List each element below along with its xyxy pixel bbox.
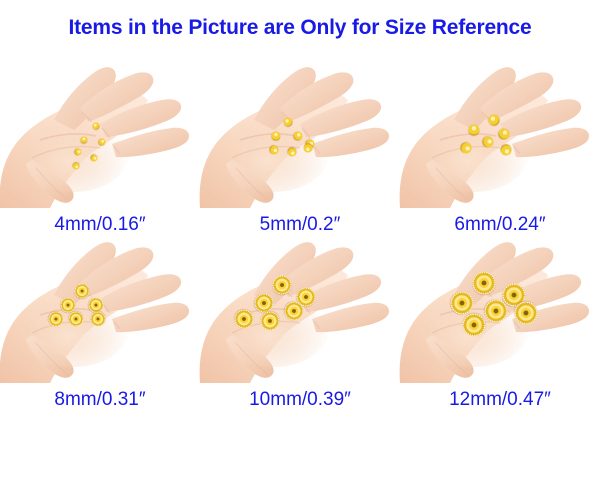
hand-photo (196, 223, 408, 388)
open-palm-illustration (0, 223, 208, 388)
hand-photo (0, 48, 208, 213)
page-title: Items in the Picture are Only for Size R… (0, 16, 600, 40)
size-cell-5mm: 5mm/0.2″ (200, 52, 400, 237)
hand-photo (196, 48, 408, 213)
open-palm-illustration (0, 48, 208, 213)
size-label-12mm: 12mm/0.47″ (400, 389, 600, 411)
size-cell-6mm: 6mm/0.24″ (400, 52, 600, 237)
size-cell-12mm: 12mm/0.47″ (400, 227, 600, 412)
size-reference-grid: 4mm/0.16″ (0, 52, 600, 472)
open-palm-illustration (196, 48, 408, 213)
size-label-8mm: 8mm/0.31″ (0, 389, 200, 411)
open-palm-illustration (396, 223, 600, 388)
size-cell-10mm: 10mm/0.39″ (200, 227, 400, 412)
size-cell-4mm: 4mm/0.16″ (0, 52, 200, 237)
size-label-10mm: 10mm/0.39″ (200, 389, 400, 411)
open-palm-illustration (196, 223, 408, 388)
hand-photo (0, 223, 208, 388)
hand-photo (396, 223, 600, 388)
open-palm-illustration (396, 48, 600, 213)
hand-photo (396, 48, 600, 213)
size-cell-8mm: 8mm/0.31″ (0, 227, 200, 412)
